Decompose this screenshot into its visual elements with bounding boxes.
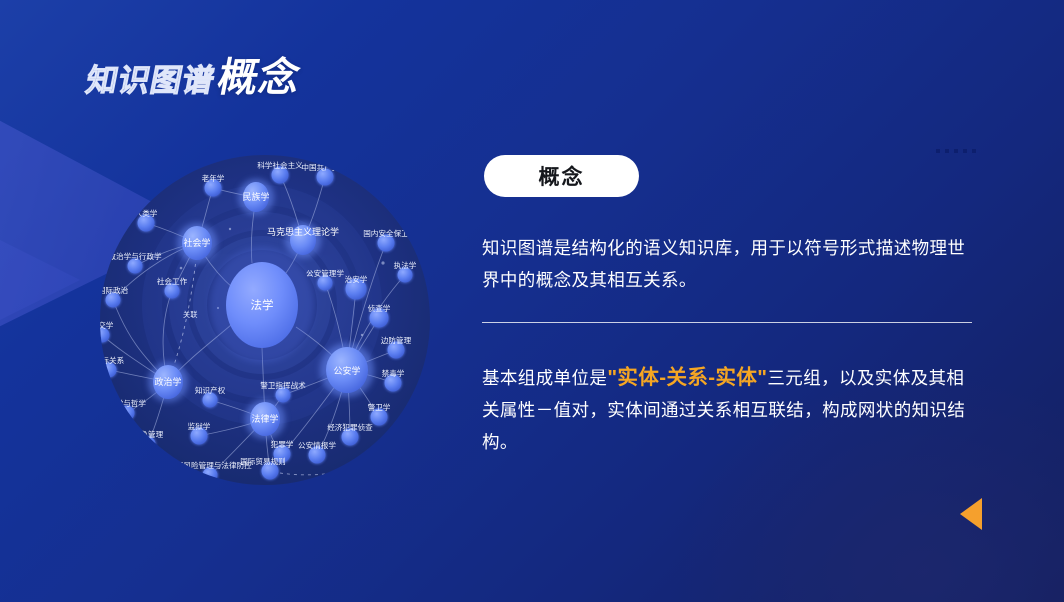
graph-node-label: 科学社会主义 — [257, 160, 303, 170]
graph-node-label: 警卫学 — [368, 402, 391, 412]
graph-node-label: 犯罪学 — [271, 439, 294, 449]
graph-node-label: 社会工作 — [157, 276, 188, 286]
graph-node-label: 侦查学 — [368, 303, 391, 313]
graph-node-label: 应急管理 — [133, 429, 164, 439]
graph-node-label: 国际关系 — [94, 355, 125, 365]
graph-node-label: 治安学 — [345, 274, 368, 284]
graph-node-label: 国际政治 — [98, 285, 129, 295]
content-divider — [482, 322, 972, 323]
graph-hub-label: 社会学 — [183, 237, 210, 248]
section-badge: 概念 — [484, 155, 639, 197]
dot-icon — [945, 149, 949, 153]
graph-node-label: 国内安全保卫 — [363, 228, 409, 238]
graph-node-label: 监狱学 — [188, 421, 211, 431]
graph-hub-label: 法律学 — [251, 413, 278, 424]
graph-node-label: 中国共产党历史 — [301, 162, 355, 172]
graph-node-label: 知识产权 — [195, 385, 226, 395]
graph-node-label: 警卫指挥战术 — [260, 380, 306, 390]
paragraph-composition-prefix: 基本组成单位是 — [482, 368, 607, 388]
paragraph-definition: 知识图谱是结构化的语义知识库，用于以符号形式描述物理世界中的概念及其相互关系。 — [482, 232, 974, 296]
triangle-left-icon[interactable] — [960, 498, 982, 530]
dot-icon — [936, 149, 940, 153]
graph-node-label: 外交学 — [91, 320, 114, 330]
dot-icon — [954, 149, 958, 153]
graph-node-label: 经济犯罪侦查 — [327, 422, 373, 432]
graph-node-label: 公安管理学 — [306, 268, 344, 278]
graph-node-label: 国际贸易规则 — [240, 456, 286, 466]
graph-hub-label: 马克思主义理论学 — [267, 226, 339, 237]
graph-node-label: 老年学 — [202, 173, 225, 183]
graph-node-label: 边防管理 — [381, 335, 412, 345]
page-title-bold: 概念 — [213, 45, 306, 103]
graph-center-label: 法学 — [251, 298, 274, 312]
graph-node-label: 执法学 — [394, 260, 417, 270]
page-title-light: 知识图谱 — [83, 55, 220, 100]
paragraph-composition: 基本组成单位是"实体-关系-实体"三元组，以及实体及其相关属性－值对，实体间通过… — [482, 362, 974, 458]
graph-edge-label: 关联 — [183, 310, 197, 319]
dot-icon — [972, 149, 976, 153]
graph-node-label: 科学与哲学 — [108, 398, 146, 408]
paragraph-composition-highlight: "实体-关系-实体" — [607, 366, 767, 389]
graph-hub-label: 公安学 — [333, 365, 360, 376]
dots-decoration-icon — [936, 149, 976, 153]
graph-node-label: 禁毒学 — [382, 368, 405, 378]
graph-hub-label: 民族学 — [242, 191, 269, 202]
knowledge-graph-visualization[interactable]: 关联 — [100, 155, 430, 485]
graph-node-label: 人类学 — [135, 208, 158, 218]
page-title: 知识图谱 概念 — [82, 45, 306, 103]
graph-node-label: 政治学与行政学 — [108, 251, 162, 261]
slide-canvas: 知识图谱 概念 — [0, 0, 1064, 602]
graph-hub-label: 政治学 — [154, 376, 181, 387]
section-badge-label: 概念 — [539, 161, 585, 191]
dot-icon — [963, 149, 967, 153]
graph-node-label: 公安情报学 — [298, 440, 336, 450]
